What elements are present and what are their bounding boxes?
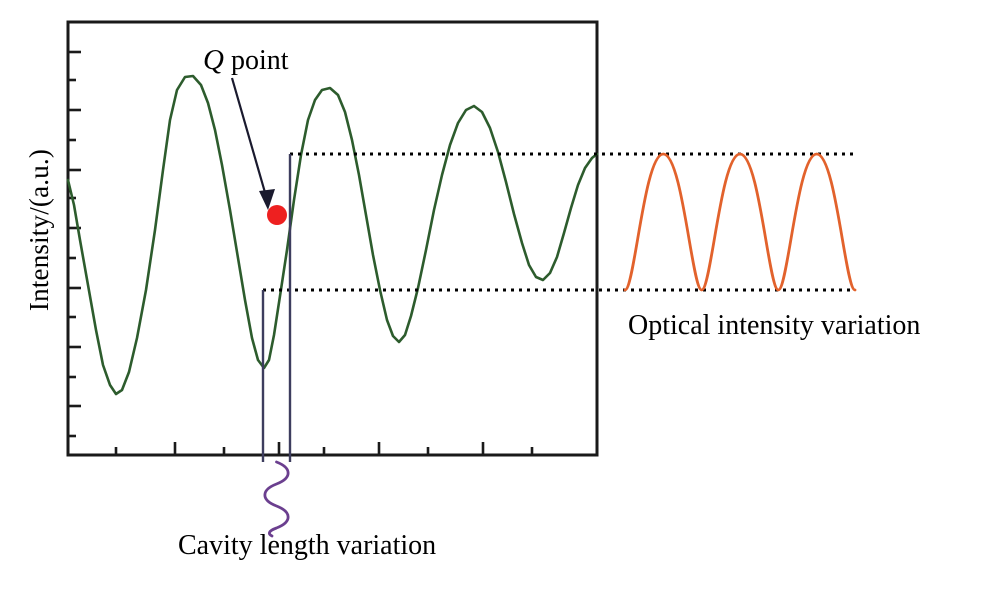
plot-frame [68, 22, 597, 455]
optical-intensity-wave [625, 154, 855, 290]
q-point-marker[interactable] [267, 205, 287, 225]
cavity-length-wave [265, 462, 288, 536]
y-axis-ticks [68, 52, 81, 436]
cavity-length-variation-label: Cavity length variation [178, 530, 436, 562]
y-axis-label: Intensity/(a.u.) [24, 30, 55, 430]
q-point-label-text: point [224, 45, 289, 76]
x-axis-ticks [116, 442, 532, 455]
q-point-arrow [232, 78, 275, 210]
figure-root: Intensity/(a.u.) Q point Optical intensi… [0, 0, 1000, 596]
q-point-label: Q point [203, 44, 289, 77]
q-point-label-symbol: Q [203, 44, 224, 76]
figure-canvas [0, 0, 1000, 596]
optical-intensity-variation-label: Optical intensity variation [628, 310, 920, 342]
interference-fringe-curve [68, 76, 597, 394]
